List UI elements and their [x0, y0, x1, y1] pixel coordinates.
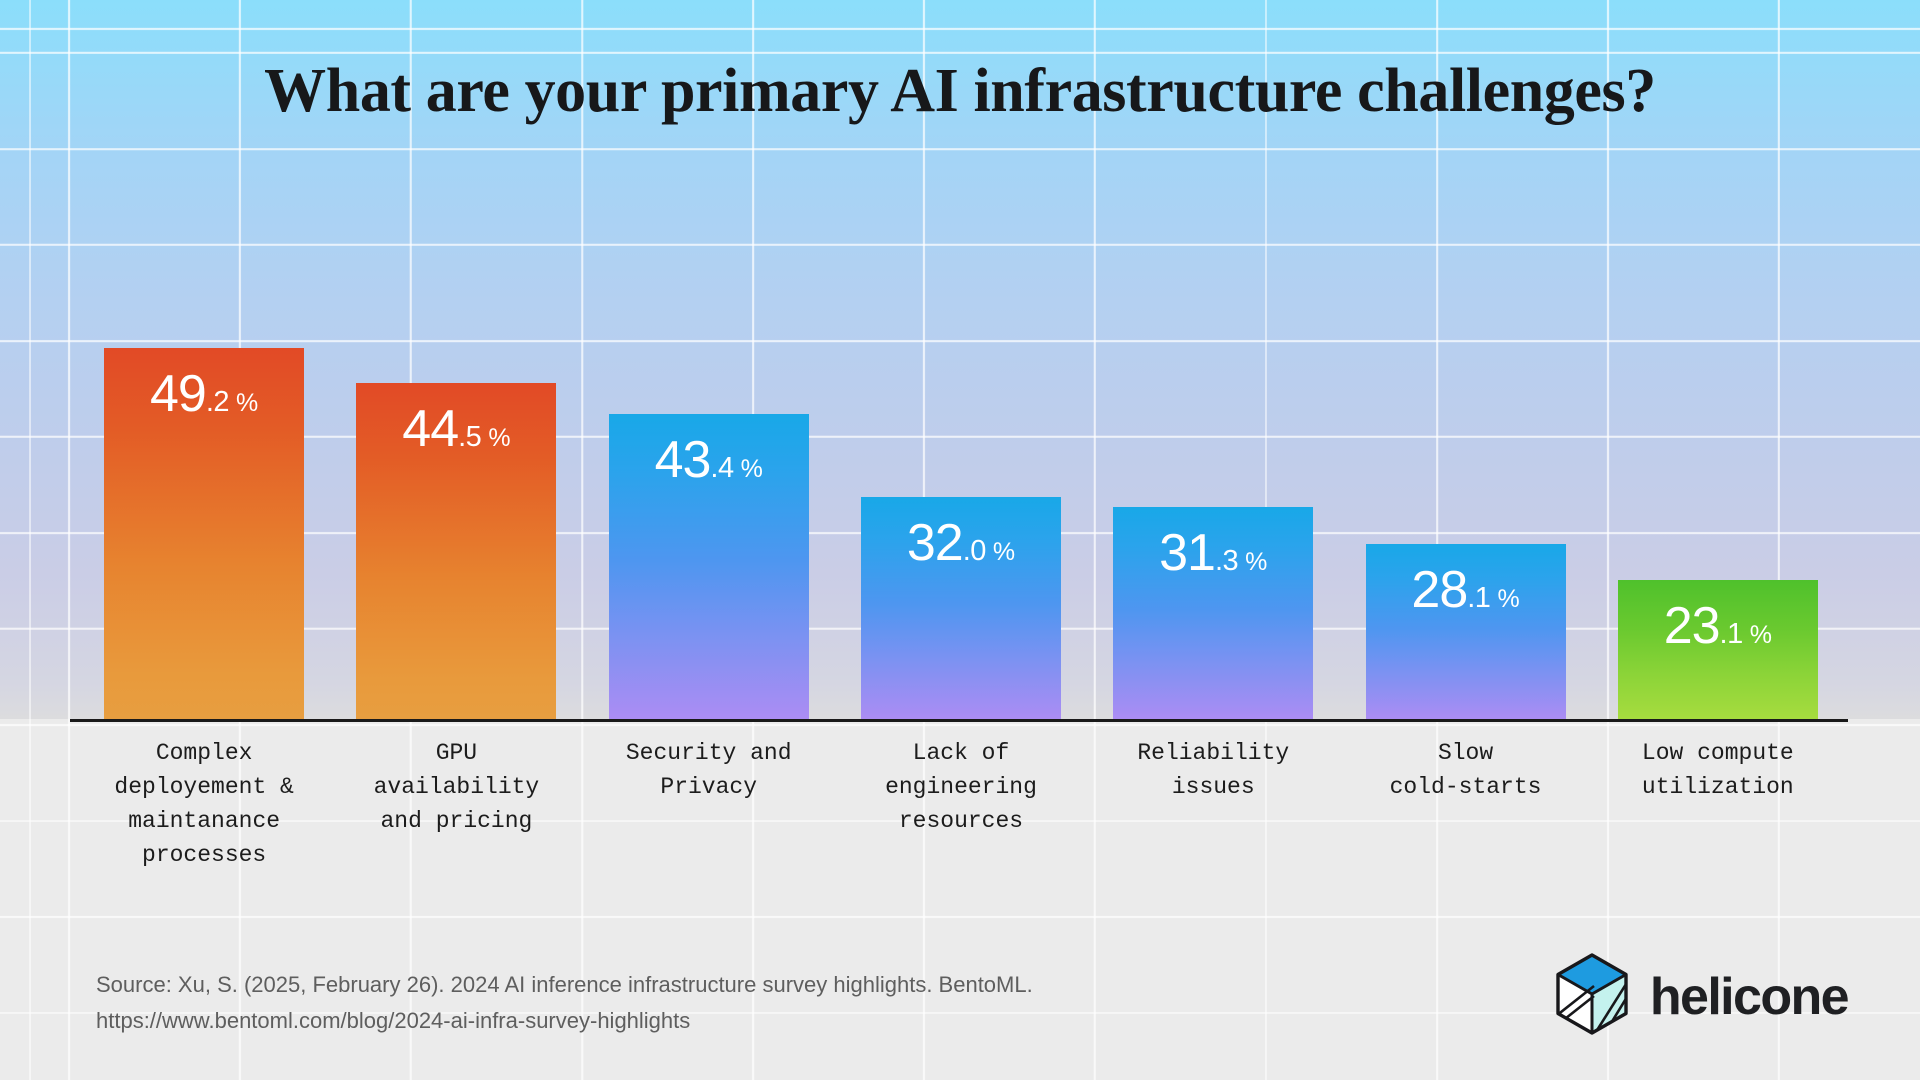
x-axis-label: Reliability issues: [1087, 736, 1339, 804]
x-axis-label: Slow cold-starts: [1339, 736, 1591, 804]
bar-chart: 49.2% 44.5% 43.4%: [78, 150, 1844, 720]
bar[interactable]: 28.1%: [1366, 544, 1566, 720]
bar-series: 49.2% 44.5% 43.4%: [78, 150, 1844, 720]
bar-value-decimal: .1: [1467, 584, 1490, 613]
bar[interactable]: 32.0%: [861, 497, 1061, 720]
bar-value-integer: 28: [1411, 564, 1467, 616]
infographic-root: What are your primary AI infrastructure …: [0, 0, 1920, 1080]
bar-value-integer: 32: [907, 517, 963, 569]
x-axis-label: Low compute utilization: [1592, 736, 1844, 804]
x-axis-label: Complex deployement & maintanance proces…: [78, 736, 330, 872]
bar-value-decimal: .4: [710, 454, 733, 483]
bar-value-integer: 43: [655, 434, 711, 486]
bar[interactable]: 49.2%: [104, 348, 304, 720]
bar[interactable]: 23.1%: [1618, 580, 1818, 720]
bar[interactable]: 44.5%: [356, 383, 556, 720]
bar-value-label: 44.5%: [402, 403, 510, 455]
x-axis-label: GPU availability and pricing: [330, 736, 582, 838]
bar-value-percent: %: [1497, 587, 1519, 612]
bar-value-integer: 23: [1664, 600, 1720, 652]
page-title: What are your primary AI infrastructure …: [0, 56, 1920, 127]
bar-value-label: 23.1%: [1664, 600, 1772, 652]
bar-value-label: 28.1%: [1411, 564, 1519, 616]
x-axis-label: Lack of engineering resources: [835, 736, 1087, 838]
brand-name: helicone: [1650, 967, 1848, 1027]
bar[interactable]: 31.3%: [1113, 507, 1313, 720]
bar-value-percent: %: [236, 391, 258, 416]
bar-slot: 28.1%: [1339, 150, 1591, 720]
bar-value-integer: 44: [402, 403, 458, 455]
bar-value-percent: %: [1750, 623, 1772, 648]
bar-slot: 31.3%: [1087, 150, 1339, 720]
bar-value-percent: %: [488, 426, 510, 451]
bar-value-decimal: .1: [1720, 620, 1743, 649]
x-axis-label: Security and Privacy: [583, 736, 835, 804]
bar-slot: 49.2%: [78, 150, 330, 720]
bar-value-decimal: .3: [1215, 547, 1238, 576]
bar-value-percent: %: [1245, 550, 1267, 575]
bar-value-decimal: .0: [963, 537, 986, 566]
cube-logo-icon: [1554, 952, 1630, 1041]
bar-slot: 44.5%: [330, 150, 582, 720]
bar-value-label: 32.0%: [907, 517, 1015, 569]
bar-slot: 23.1%: [1592, 150, 1844, 720]
x-axis-line: [70, 719, 1848, 722]
brand-lockup: helicone: [1554, 952, 1848, 1041]
bar-value-integer: 49: [150, 368, 206, 420]
bar-slot: 32.0%: [835, 150, 1087, 720]
bar-value-label: 49.2%: [150, 368, 258, 420]
x-axis-category-labels: Complex deployement & maintanance proces…: [78, 736, 1844, 872]
bar-value-decimal: .2: [206, 388, 229, 417]
bar-value-decimal: .5: [458, 423, 481, 452]
bar-value-percent: %: [741, 457, 763, 482]
bar-value-integer: 31: [1159, 527, 1215, 579]
bar-value-label: 43.4%: [655, 434, 763, 486]
source-citation: Source: Xu, S. (2025, February 26). 2024…: [96, 967, 1296, 1039]
bar-value-percent: %: [993, 540, 1015, 565]
bar-slot: 43.4%: [583, 150, 835, 720]
bar[interactable]: 43.4%: [609, 414, 809, 720]
bar-value-label: 31.3%: [1159, 527, 1267, 579]
